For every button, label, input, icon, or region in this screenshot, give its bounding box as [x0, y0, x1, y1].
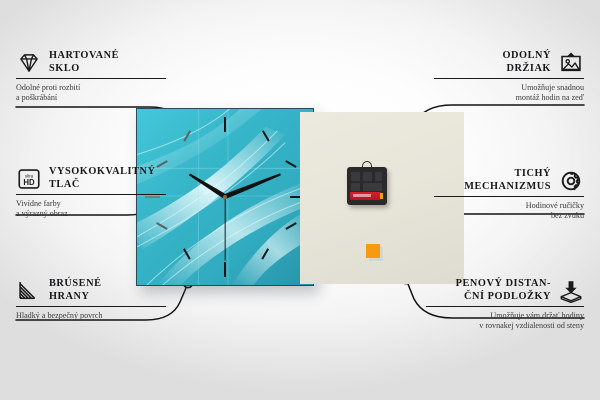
- feature-title: HARTOVANÉ SKLO: [49, 50, 119, 75]
- divider: [434, 196, 584, 197]
- divider: [426, 306, 584, 307]
- feature-foam-spacers: PENOVÝ DISTAN- ČNÍ PODLOŽKY Umožňuje vám…: [426, 278, 584, 331]
- feature-desc-line2: v rovnakej vzdialenosti od steny: [426, 321, 584, 331]
- gear-icon: [558, 169, 584, 193]
- feature-header: ultra HD VYSOKOKVALITNÝ TLAČ: [16, 166, 166, 191]
- divider: [434, 78, 584, 79]
- feature-desc-line1: Umožňuje vám držať hodiny: [426, 311, 584, 321]
- clock-tick-12: [224, 117, 226, 132]
- feature-desc-line2: a výrazný obraz: [16, 209, 166, 219]
- feature-desc-line2: bez zvuku: [434, 211, 584, 221]
- divider: [16, 78, 166, 79]
- feature-silent-mechanism: TICHÝ MECHANIZMUS Hodinové ručičky bez z…: [434, 168, 584, 221]
- diamond-icon: [16, 51, 42, 75]
- feature-desc-line2: montáž hodin na zeď: [434, 93, 584, 103]
- divider: [16, 194, 166, 195]
- feature-title: BRÚSENÉ HRANY: [49, 278, 102, 303]
- brushed-edges-icon: [16, 279, 42, 303]
- ultra-hd-icon: ultra HD: [16, 167, 42, 191]
- feature-header: ODOLNÝ DRŽIAK: [434, 50, 584, 75]
- feature-title: ODOLNÝ DRŽIAK: [503, 50, 552, 75]
- feature-title: TICHÝ MECHANIZMUS: [464, 168, 551, 193]
- clock-second-hand: [224, 197, 225, 261]
- infographic-canvas: HARTOVANÉ SKLO Odolné proti rozbití a po…: [0, 0, 600, 400]
- feature-durable-hanger: ODOLNÝ DRŽIAK Umožňuje snadnou montáž ho…: [434, 50, 584, 103]
- divider: [16, 306, 166, 307]
- feature-header: PENOVÝ DISTAN- ČNÍ PODLOŽKY: [426, 278, 584, 303]
- feature-header: BRÚSENÉ HRANY: [16, 278, 166, 303]
- clock-tick-6: [224, 262, 226, 277]
- foam-spacer-pad: [366, 244, 380, 258]
- feature-title: PENOVÝ DISTAN- ČNÍ PODLOŽKY: [456, 278, 551, 303]
- feature-desc-line1: Umožňuje snadnou: [434, 83, 584, 93]
- press-pad-icon: [558, 279, 584, 303]
- mechanism-battery: [350, 192, 381, 200]
- framed-picture-icon: [558, 51, 584, 75]
- feature-header: TICHÝ MECHANIZMUS: [434, 168, 584, 193]
- feature-desc-line1: Odolné proti rozbití: [16, 83, 166, 93]
- feature-desc-line1: Vivídne farby: [16, 199, 166, 209]
- feature-desc-line1: Hodinové ručičky: [434, 201, 584, 211]
- feature-ground-edges: BRÚSENÉ HRANY Hladký a bezpečný povrch: [16, 278, 166, 321]
- feature-desc-line2: a poškrábání: [16, 93, 166, 103]
- svg-text:HD: HD: [23, 178, 35, 187]
- feature-hd-print: ultra HD VYSOKOKVALITNÝ TLAČ Vivídne far…: [16, 166, 166, 219]
- feature-title: VYSOKOKVALITNÝ TLAČ: [49, 166, 156, 191]
- feature-header: HARTOVANÉ SKLO: [16, 50, 166, 75]
- feature-desc-line1: Hladký a bezpečný povrch: [16, 311, 166, 321]
- feature-tempered-glass: HARTOVANÉ SKLO Odolné proti rozbití a po…: [16, 50, 166, 103]
